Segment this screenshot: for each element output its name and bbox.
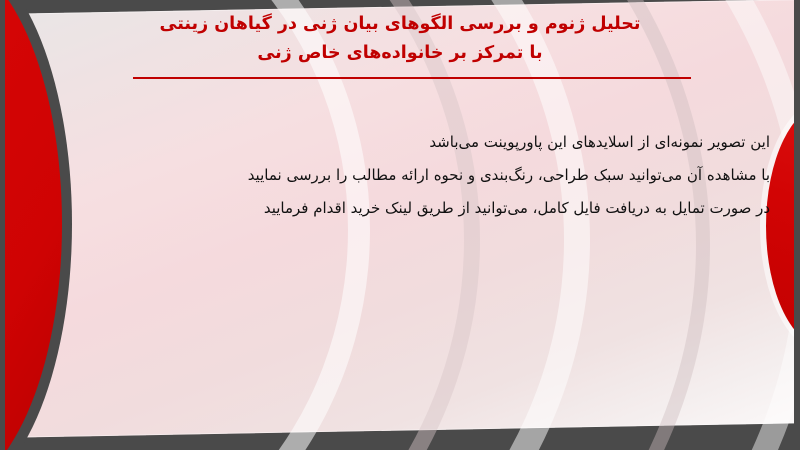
slide-body-line-2: با مشاهده آن می‌توانید سبک طراحی، رنگ‌بن… — [38, 159, 800, 192]
slide-title: تحلیل ژنوم و بررسی الگوهای بیان ژنی در گ… — [0, 10, 800, 68]
slide-title-line-1: تحلیل ژنوم و بررسی الگوهای بیان ژنی در گ… — [0, 10, 800, 39]
slide-content: تحلیل ژنوم و بررسی الگوهای بیان ژنی در گ… — [0, 0, 800, 450]
slide-body-line-3: در صورت تمایل به دریافت فایل کامل، می‌تو… — [38, 192, 800, 225]
slide-body-text: این تصویر نمونه‌ای از اسلایدهای این پاور… — [38, 126, 800, 225]
slide-title-line-2: با تمرکز بر خانواده‌های خاص ژنی — [0, 39, 800, 68]
presentation-slide: تحلیل ژنوم و بررسی الگوهای بیان ژنی در گ… — [0, 0, 800, 450]
slide-body-line-1: این تصویر نمونه‌ای از اسلایدهای این پاور… — [38, 126, 800, 159]
title-underline-rule — [133, 77, 691, 79]
